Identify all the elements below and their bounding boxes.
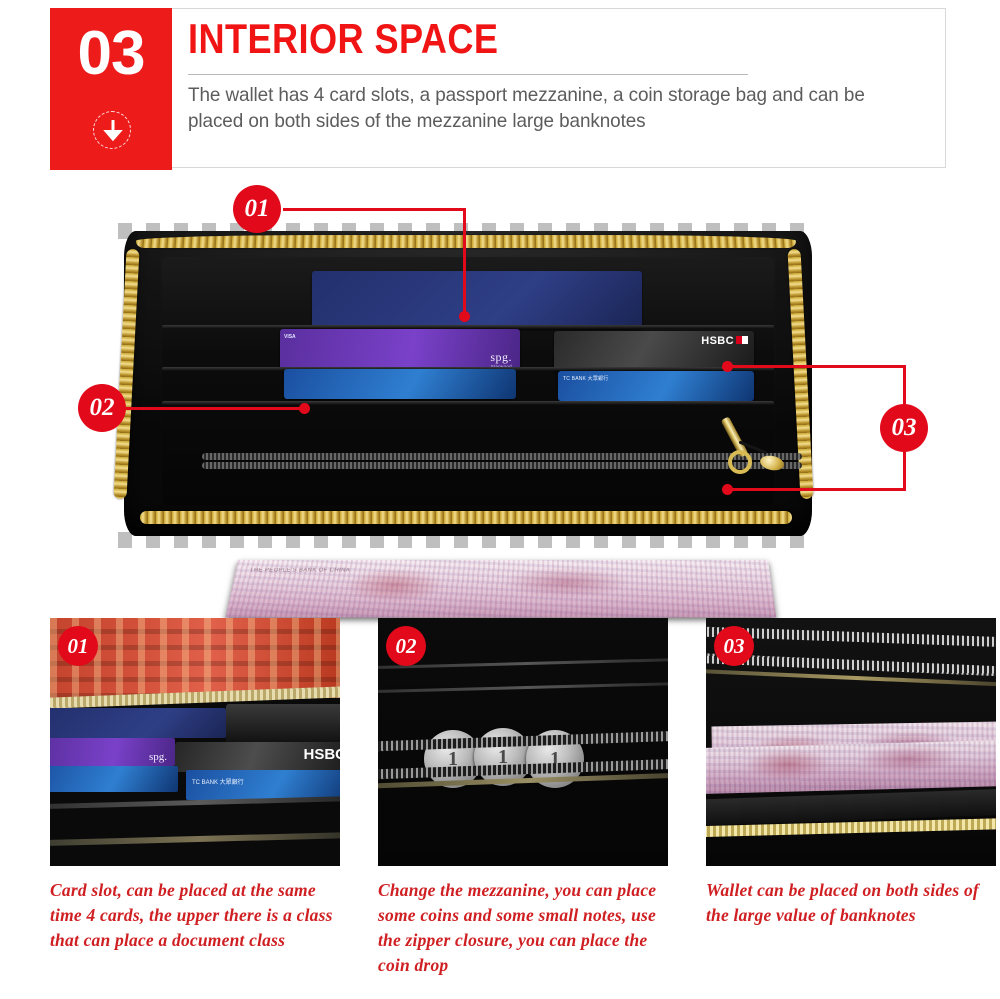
panel-badge-03[interactable]: 03 <box>714 626 754 666</box>
detail-panel-02: 1 1 1 02 Change the mezzanine, you can p… <box>378 618 668 978</box>
callout-01-line-vertical <box>463 208 466 315</box>
page-title: INTERIOR SPACE <box>188 16 498 62</box>
panel-03-banknote-front <box>706 740 996 794</box>
panel-01-card-blue: ld <box>50 766 178 792</box>
detail-panel-01-caption: Card slot, can be placed at the same tim… <box>50 878 340 953</box>
callout-badge-02[interactable]: 02 <box>78 384 126 432</box>
coin-pocket-zipper <box>202 453 802 469</box>
panel-01-leather-flap <box>226 704 340 744</box>
detail-panel-01: spg. HSBC ld TC BANK 大眾銀行 01 Card slot, … <box>50 618 340 953</box>
detail-panel-03-caption: Wallet can be placed on both sides of th… <box>706 878 996 928</box>
detail-panel-03: 03 Wallet can be placed on both sides of… <box>706 618 996 928</box>
card-tcbank-label: TC BANK 大眾銀行 <box>563 375 608 382</box>
detail-panel-02-image: 1 1 1 02 <box>378 618 668 866</box>
panel-01-card-tcbank: TC BANK 大眾銀行 <box>186 770 340 800</box>
zipper-tape-upper <box>202 453 802 460</box>
panel-badge-01[interactable]: 01 <box>58 626 98 666</box>
callout-03-dot-lower <box>722 484 733 495</box>
callout-03-line-upper <box>728 365 906 368</box>
panel-01-spg-label: spg. <box>149 751 167 763</box>
detail-panel-03-image: 03 <box>706 618 996 866</box>
title-divider <box>188 74 748 75</box>
hsbc-logo-icon <box>736 336 748 344</box>
header-body: INTERIOR SPACE The wallet has 4 card slo… <box>172 8 946 168</box>
callout-02-line <box>120 407 306 410</box>
callout-01-dot <box>459 311 470 322</box>
section-number-block: 03 <box>50 8 172 170</box>
section-number: 03 <box>50 22 172 86</box>
card-spg-label: spg. <box>490 350 512 365</box>
detail-panel-02-caption: Change the mezzanine, you can place some… <box>378 878 668 978</box>
callout-badge-03[interactable]: 03 <box>880 404 928 452</box>
callout-03-line-lower <box>728 488 906 491</box>
panel-01-card-spg: spg. <box>50 738 175 766</box>
card-hsbc-label: HSBC <box>701 335 734 347</box>
banknote-text: THE PEOPLE'S BANK OF CHINA <box>249 568 350 573</box>
card-visa-label: VISA <box>284 335 296 340</box>
panel-01-tcbank-label: TC BANK 大眾銀行 <box>192 777 244 786</box>
wallet-interior: VISA spg. Starwood HSBC TC BANK 大眾銀行 <box>162 257 774 505</box>
callout-badge-01[interactable]: 01 <box>233 185 281 233</box>
panel-01-card-navy <box>50 708 226 738</box>
detail-panels: spg. HSBC ld TC BANK 大眾銀行 01 Card slot, … <box>0 618 1000 998</box>
arrow-down-icon <box>93 111 131 149</box>
header-description: The wallet has 4 card slots, a passport … <box>188 82 911 134</box>
callout-01-line-horizontal <box>283 208 466 211</box>
zipper-bottom <box>140 511 792 524</box>
callout-02-dot <box>299 403 310 414</box>
detail-panel-01-image: spg. HSBC ld TC BANK 大眾銀行 01 <box>50 618 340 866</box>
card-shelf-3 <box>162 401 774 405</box>
card-blue-left <box>284 369 516 399</box>
wallet-illustration: VISA spg. Starwood HSBC TC BANK 大眾銀行 <box>118 223 818 548</box>
panel-badge-02[interactable]: 02 <box>386 626 426 666</box>
zipper-pull-ring <box>728 450 752 474</box>
card-spg: VISA spg. Starwood <box>280 329 520 369</box>
zipper-pull-tab <box>730 416 800 466</box>
zipper-tape-lower <box>202 462 802 469</box>
section-header: 03 INTERIOR SPACE The wallet has 4 card … <box>50 8 948 170</box>
banknote: THE PEOPLE'S BANK OF CHINA <box>226 560 777 618</box>
card-tcbank: TC BANK 大眾銀行 <box>558 371 754 401</box>
callout-03-dot-upper <box>722 361 733 372</box>
hero-wallet-image: VISA spg. Starwood HSBC TC BANK 大眾銀行 <box>0 175 1000 595</box>
panel-01-hsbc-label: HSBC <box>303 746 340 763</box>
card-passport-slot <box>312 271 642 329</box>
panel-01-seam-lower <box>50 832 340 846</box>
panel-01-card-hsbc: HSBC <box>175 742 340 772</box>
